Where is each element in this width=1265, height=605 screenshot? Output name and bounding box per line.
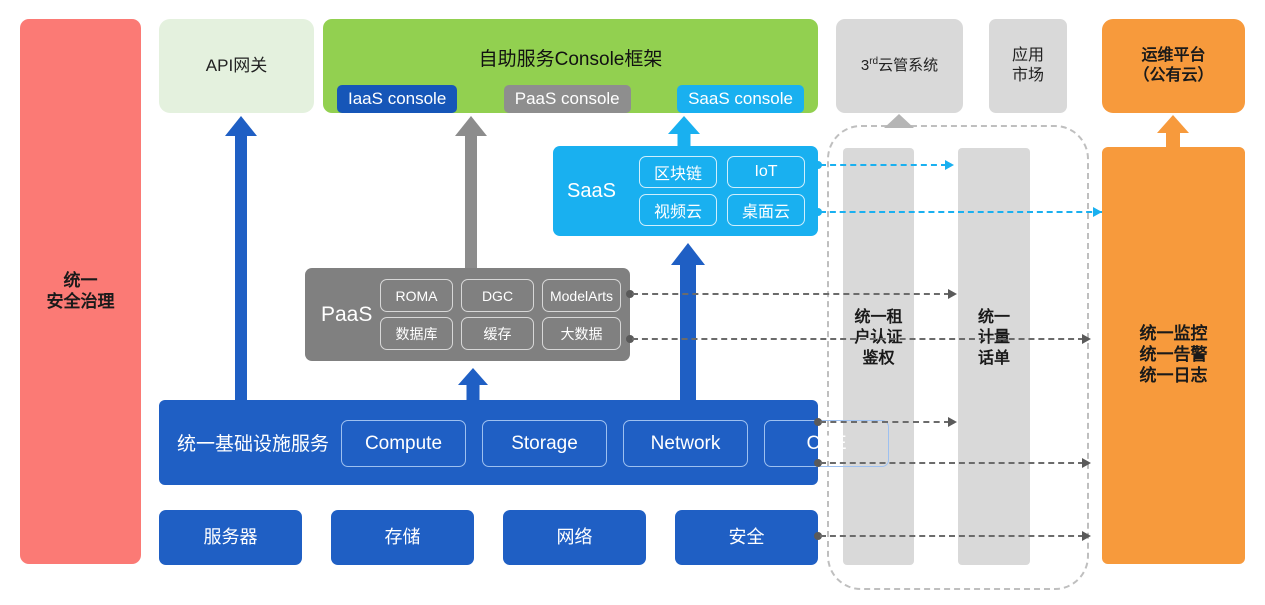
infrastructure-label: 统一基础设施服务 — [177, 400, 329, 485]
saas-service-grid: 区块链 IoT 视频云 桌面云 — [639, 156, 805, 226]
ops-monitoring-panel: 统一监控统一告警统一日志 — [1102, 147, 1245, 564]
infrastructure-box: 统一基础设施服务 Compute Storage Network CCE — [159, 400, 818, 485]
infra-service-network[interactable]: Network — [623, 420, 748, 467]
arrow-infra-to-paas — [458, 368, 488, 402]
third-party-cloud-mgmt-box: 3rd云管系统 — [836, 19, 963, 113]
connector-paas-to-metering — [632, 293, 950, 295]
paas-label: PaaS — [321, 268, 372, 361]
resource-label-security: 安全 — [729, 527, 765, 549]
connector-arrowhead-infra-metering — [948, 417, 957, 427]
connector-arrowhead-resources-ops — [1082, 531, 1091, 541]
saas-box: SaaS 区块链 IoT 视频云 桌面云 — [553, 146, 818, 236]
chip-iaas-console[interactable]: IaaS console — [337, 85, 457, 113]
connector-paas-to-ops — [632, 338, 1084, 340]
connector-arrowhead-saas-ops — [1093, 207, 1102, 217]
connector-resources-to-ops — [820, 535, 1084, 537]
chip-saas-console[interactable]: SaaS console — [677, 85, 804, 113]
console-framework-title: 自助服务Console框架 — [323, 44, 818, 71]
connector-arrowhead-paas-ops — [1082, 334, 1091, 344]
api-gateway-box: API网关 — [159, 19, 314, 113]
chip-paas-console[interactable]: PaaS console — [504, 85, 631, 113]
ops-platform-public-cloud-box: 运维平台（公有云） — [1102, 19, 1245, 113]
ops-platform-public-cloud-label: 运维平台（公有云） — [1133, 46, 1213, 85]
resource-label-storage: 存储 — [385, 527, 421, 549]
console-framework-box: 自助服务Console框架 IaaS console PaaS console … — [323, 19, 818, 113]
security-governance-panel: 统一安全治理 — [20, 19, 141, 564]
connector-arrowhead-infra-ops — [1082, 458, 1091, 468]
infra-service-cce[interactable]: CCE — [764, 420, 889, 467]
security-governance-label: 统一安全治理 — [47, 271, 115, 312]
arrow-infra-to-saas — [671, 243, 705, 402]
third-party-cloud-mgmt-label: 3rd云管系统 — [861, 56, 938, 75]
infrastructure-service-row: Compute Storage Network CCE — [341, 420, 889, 467]
arrow-saas-to-console — [668, 116, 700, 146]
resource-box-storage: 存储 — [331, 510, 474, 565]
paas-service-dgc[interactable]: DGC — [461, 279, 534, 312]
arrow-infra-to-api-gateway — [225, 116, 257, 400]
app-market-box: 应用市场 — [989, 19, 1067, 113]
saas-label: SaaS — [567, 146, 616, 236]
paas-service-database[interactable]: 数据库 — [380, 317, 453, 350]
arrow-ops-right-to-ops-top — [1157, 115, 1189, 148]
infra-service-compute[interactable]: Compute — [341, 420, 466, 467]
saas-service-desktop-cloud[interactable]: 桌面云 — [727, 194, 805, 226]
console-chip-row: IaaS console PaaS console SaaS console — [337, 85, 804, 113]
connector-saas-to-ops — [820, 211, 1102, 213]
saas-service-blockchain[interactable]: 区块链 — [639, 156, 717, 188]
connector-saas-to-tenant-auth — [820, 164, 947, 166]
app-market-label: 应用市场 — [1012, 46, 1044, 85]
resource-box-server: 服务器 — [159, 510, 302, 565]
arrow-paas-to-console — [455, 116, 487, 268]
api-gateway-label: API网关 — [206, 56, 267, 77]
resource-label-server: 服务器 — [204, 527, 258, 549]
connector-arrowhead-saas-auth — [945, 160, 954, 170]
ops-monitoring-label: 统一监控统一告警统一日志 — [1140, 324, 1208, 386]
saas-service-video-cloud[interactable]: 视频云 — [639, 194, 717, 226]
connector-infra-to-metering — [820, 421, 950, 423]
saas-service-iot[interactable]: IoT — [727, 156, 805, 188]
paas-service-bigdata[interactable]: 大数据 — [542, 317, 621, 350]
architecture-diagram: 统一安全治理 API网关 自助服务Console框架 IaaS console … — [0, 0, 1265, 605]
resource-label-network: 网络 — [557, 527, 593, 549]
resource-box-security: 安全 — [675, 510, 818, 565]
paas-box: PaaS ROMA DGC ModelArts 数据库 缓存 大数据 — [305, 268, 630, 361]
paas-service-modelarts[interactable]: ModelArts — [542, 279, 621, 312]
paas-service-grid: ROMA DGC ModelArts 数据库 缓存 大数据 — [380, 279, 621, 350]
infra-service-storage[interactable]: Storage — [482, 420, 607, 467]
paas-service-cache[interactable]: 缓存 — [461, 317, 534, 350]
paas-service-roma[interactable]: ROMA — [380, 279, 453, 312]
arrow-to-third-party-cloud-mgmt — [884, 114, 914, 128]
connector-arrowhead-paas-metering — [948, 289, 957, 299]
connector-infra-to-ops — [820, 462, 1084, 464]
resource-box-network: 网络 — [503, 510, 646, 565]
